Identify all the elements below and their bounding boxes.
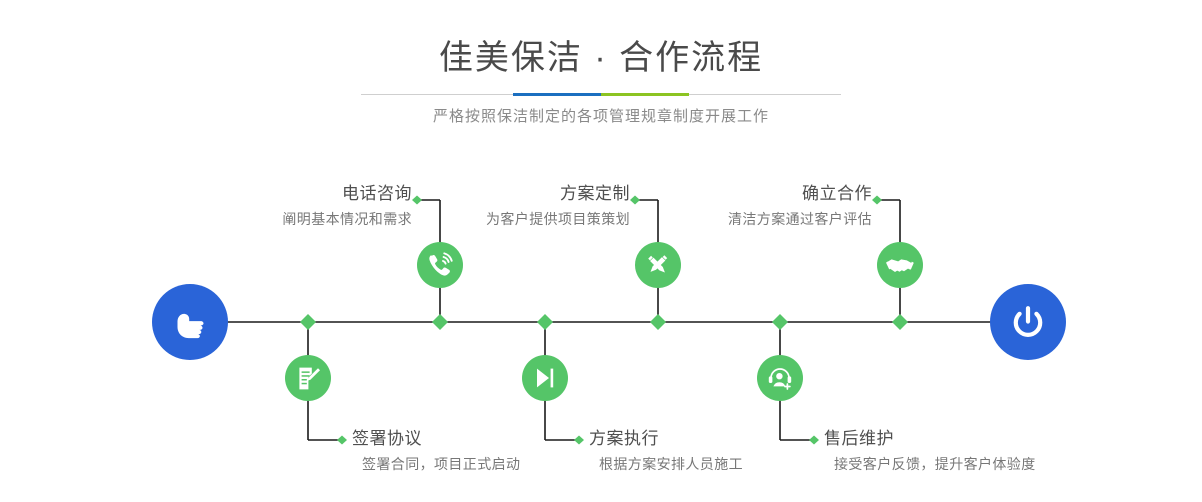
sign-document-icon: [295, 365, 322, 392]
step-node-6[interactable]: [757, 355, 803, 401]
flow-start-node[interactable]: [152, 284, 228, 360]
step-desc-5: 清洁方案通过客户评估: [592, 212, 872, 226]
power-icon: [1007, 301, 1049, 343]
flow-end-node[interactable]: [990, 284, 1066, 360]
step-label-3: 方案定制 为客户提供项目策策划: [340, 185, 630, 226]
step-desc-3: 为客户提供项目策策划: [340, 212, 630, 226]
step-node-4[interactable]: [522, 355, 568, 401]
pointing-hand-icon: [169, 301, 211, 343]
step-node-1[interactable]: [417, 242, 463, 288]
step-title-3: 方案定制: [340, 185, 630, 202]
step-node-5[interactable]: [877, 242, 923, 288]
step-label-6: 售后维护 接受客户反馈，提升客户体验度: [824, 430, 1144, 471]
step-desc-6: 接受客户反馈，提升客户体验度: [834, 457, 1144, 471]
pencil-plan-icon: [644, 251, 672, 279]
phone-call-icon: [426, 251, 454, 279]
play-execute-icon: [532, 365, 558, 391]
step-node-3[interactable]: [635, 242, 681, 288]
step-title-5: 确立合作: [592, 185, 872, 202]
process-flow-diagram: 电话咨询 阐明基本情况和需求 方案定制 为客户提供项目策策划: [0, 0, 1202, 502]
step-node-2[interactable]: [285, 355, 331, 401]
flow-connector-lines: [0, 0, 1202, 502]
handshake-icon: [885, 250, 915, 280]
step-title-6: 售后维护: [824, 430, 1144, 447]
customer-support-icon: [766, 364, 794, 392]
step-label-5: 确立合作 清洁方案通过客户评估: [592, 185, 872, 226]
